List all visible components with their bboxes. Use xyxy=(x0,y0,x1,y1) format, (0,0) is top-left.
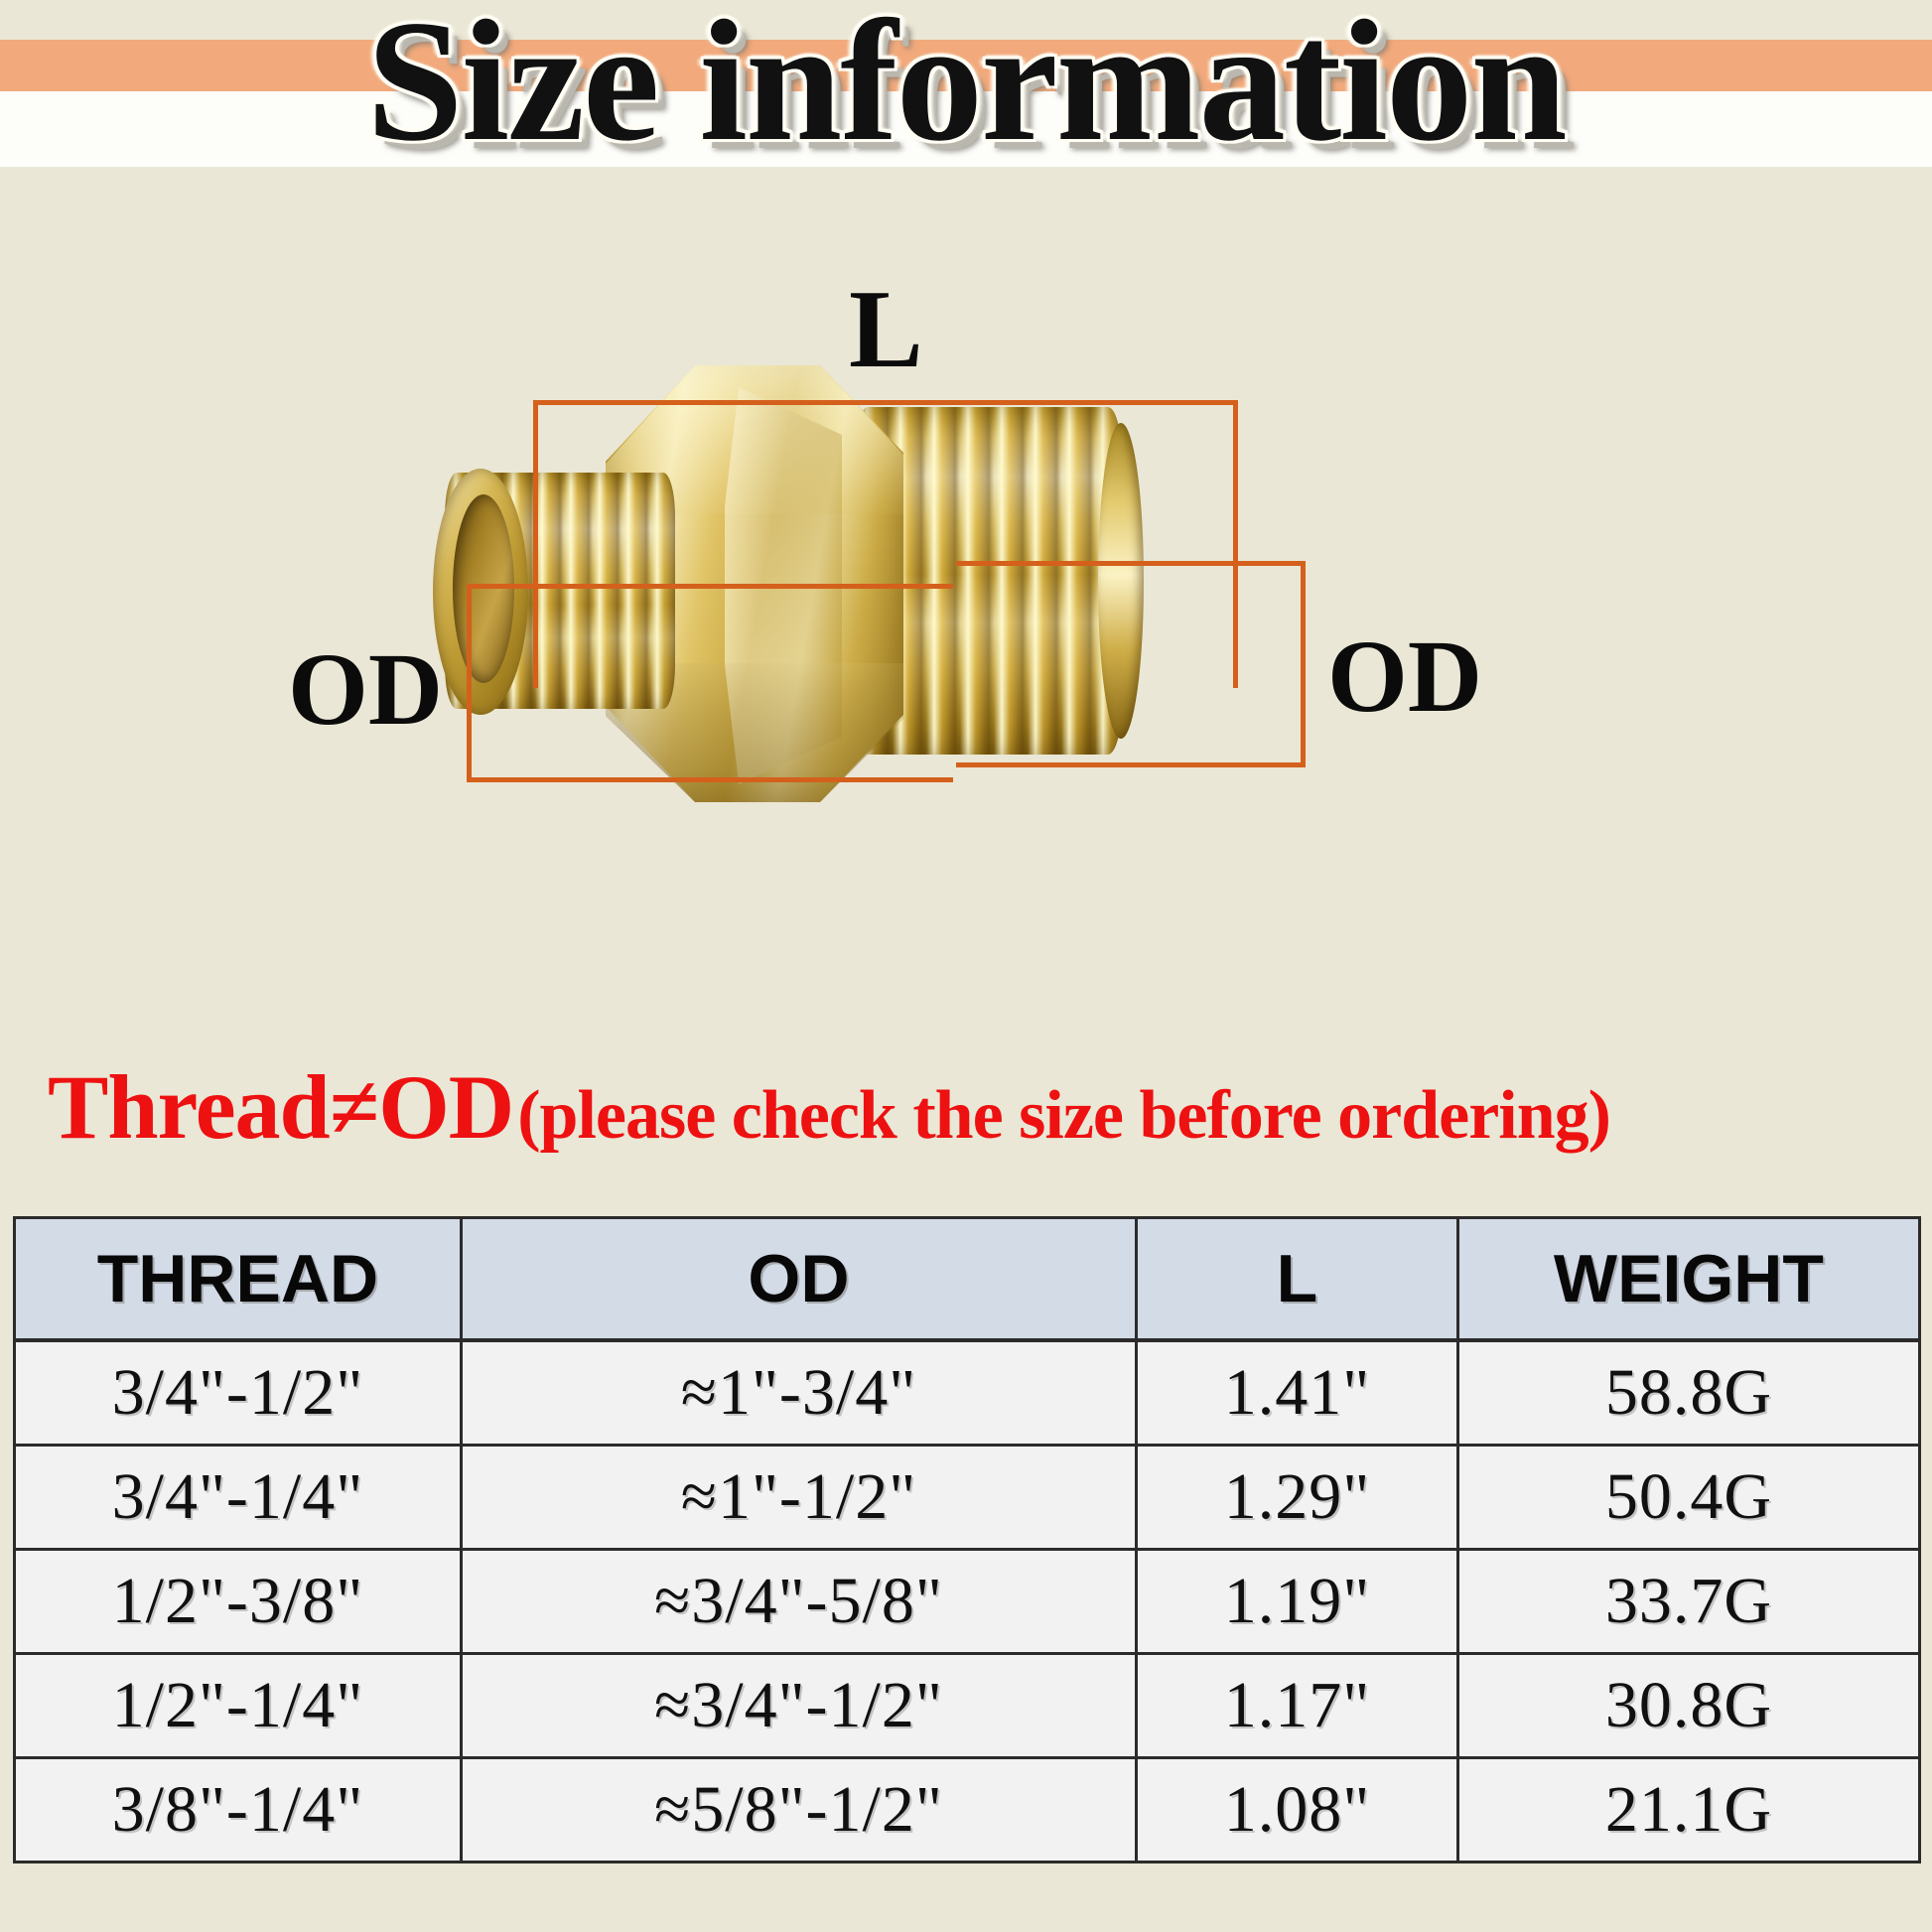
table-row: 1/2"-3/8" ≈3/4"-5/8" 1.19" 33.7G xyxy=(16,1550,1918,1654)
cell-thread: 1/2"-1/4" xyxy=(16,1654,461,1758)
od-right-label: OD xyxy=(1327,625,1482,729)
bore-opening xyxy=(453,494,514,683)
table-row: 3/4"-1/2" ≈1"-3/4" 1.41" 58.8G xyxy=(16,1340,1918,1446)
cell-l: 1.19" xyxy=(1137,1550,1458,1654)
od-left-dimension-line-bottom xyxy=(467,777,953,782)
cell-od: ≈3/4"-1/2" xyxy=(461,1654,1136,1758)
column-header-thread: THREAD xyxy=(16,1219,461,1340)
cell-weight: 58.8G xyxy=(1457,1340,1918,1446)
od-left-dimension-line-top xyxy=(467,584,953,589)
size-information-infographic: Size information L OD OD xyxy=(0,0,1932,1932)
cell-weight: 33.7G xyxy=(1457,1550,1918,1654)
cell-l: 1.41" xyxy=(1137,1340,1458,1446)
table-row: 3/8"-1/4" ≈5/8"-1/2" 1.08" 21.1G xyxy=(16,1758,1918,1862)
cell-thread: 3/4"-1/4" xyxy=(16,1446,461,1550)
page-title: Size information xyxy=(0,0,1932,168)
cell-thread: 3/4"-1/2" xyxy=(16,1340,461,1446)
od-right-dimension-line-bottom xyxy=(956,762,1306,767)
cell-od: ≈5/8"-1/2" xyxy=(461,1758,1136,1862)
large-thread-end-face xyxy=(1098,423,1144,739)
od-right-dimension-line-top xyxy=(956,561,1306,566)
od-right-dimension-tick xyxy=(1301,561,1306,767)
length-label: L xyxy=(849,274,923,385)
spec-table-container: THREAD OD L WEIGHT 3/4"-1/2" ≈1"-3/4" 1.… xyxy=(13,1216,1921,1863)
cell-od: ≈3/4"-5/8" xyxy=(461,1550,1136,1654)
column-header-weight: WEIGHT xyxy=(1457,1219,1918,1340)
brass-fitting-image xyxy=(427,365,1420,882)
table-row: 1/2"-1/4" ≈3/4"-1/2" 1.17" 30.8G xyxy=(16,1654,1918,1758)
table-body: 3/4"-1/2" ≈1"-3/4" 1.41" 58.8G 3/4"-1/4"… xyxy=(16,1340,1918,1861)
cell-l: 1.29" xyxy=(1137,1446,1458,1550)
column-header-l: L xyxy=(1137,1219,1458,1340)
od-left-label: OD xyxy=(288,638,443,742)
cell-weight: 30.8G xyxy=(1457,1654,1918,1758)
warning-note: (please check the size before ordering) xyxy=(517,1077,1610,1154)
cell-weight: 21.1G xyxy=(1457,1758,1918,1862)
cell-weight: 50.4G xyxy=(1457,1446,1918,1550)
table-header-row: THREAD OD L WEIGHT xyxy=(16,1219,1918,1340)
cell-l: 1.08" xyxy=(1137,1758,1458,1862)
cell-thread: 1/2"-3/8" xyxy=(16,1550,461,1654)
spec-table: THREAD OD L WEIGHT 3/4"-1/2" ≈1"-3/4" 1.… xyxy=(16,1219,1918,1861)
product-diagram: L OD OD xyxy=(0,256,1932,1050)
column-header-od: OD xyxy=(461,1219,1136,1340)
cell-od: ≈1"-1/2" xyxy=(461,1446,1136,1550)
warning-emphasis: Thread≠OD xyxy=(48,1056,513,1158)
table-row: 3/4"-1/4" ≈1"-1/2" 1.29" 50.4G xyxy=(16,1446,1918,1550)
background-curve-mask xyxy=(0,167,1932,256)
cell-l: 1.17" xyxy=(1137,1654,1458,1758)
cell-thread: 3/8"-1/4" xyxy=(16,1758,461,1862)
title-banner: Size information xyxy=(0,0,1932,256)
thread-od-warning: Thread≠OD (please check the size before … xyxy=(48,1054,1904,1160)
od-left-dimension-tick xyxy=(467,584,472,782)
length-dimension-tick-left xyxy=(533,400,538,688)
length-dimension-line-top xyxy=(533,400,1238,405)
cell-od: ≈1"-3/4" xyxy=(461,1340,1136,1446)
length-dimension-tick-right xyxy=(1233,400,1238,688)
